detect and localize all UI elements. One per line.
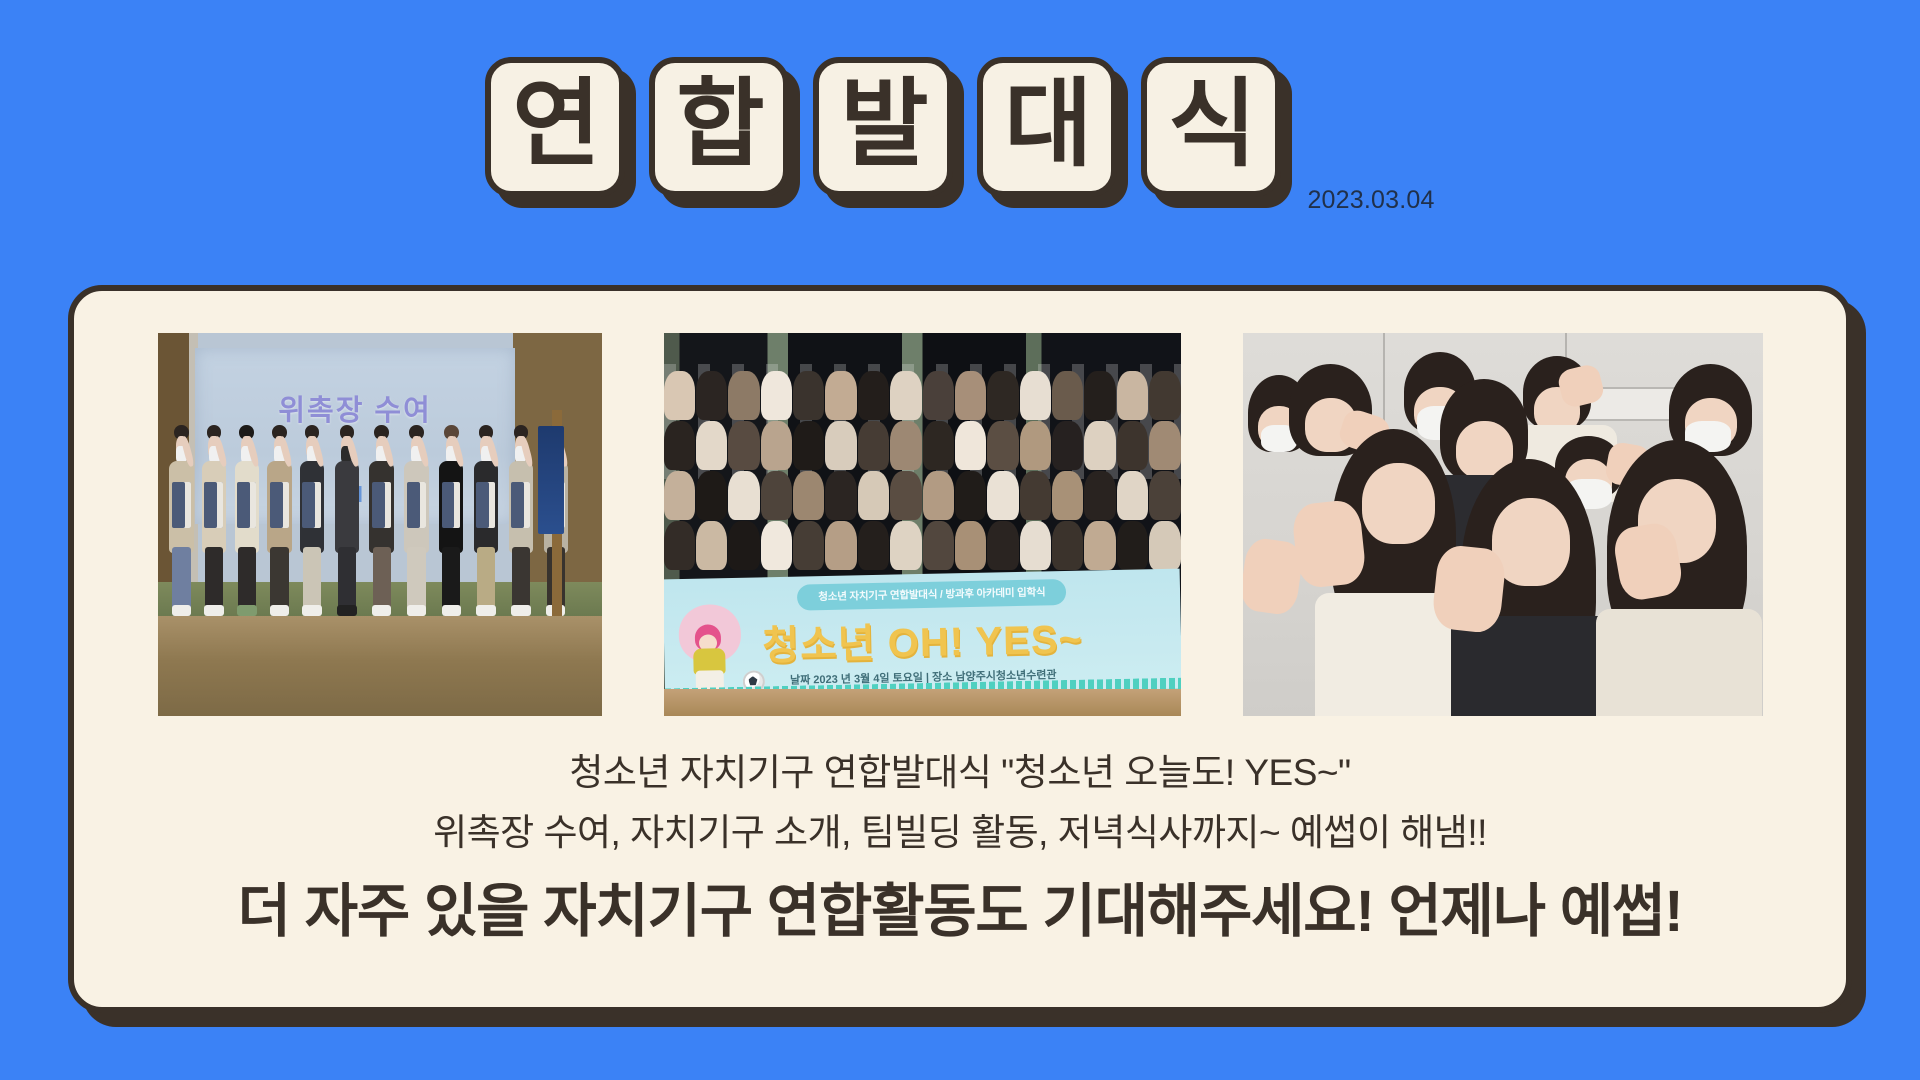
title-tile-letter: 식 — [1168, 77, 1254, 173]
selfie-photo — [1243, 333, 1763, 716]
poster-root: 연 합 발 대 식 2023.03.04 위촉장 수여 — [0, 0, 1920, 1080]
awardee — [199, 425, 229, 617]
awardee — [506, 425, 536, 617]
content-card: 위촉장 수여 — [68, 285, 1852, 1013]
awardee — [297, 425, 327, 617]
title-tile-1: 연 — [485, 57, 625, 197]
peace-sign-hand — [1431, 544, 1507, 635]
awardee — [436, 425, 466, 617]
group-assembly-photo: 청소년 자치기구 연합발대식 / 방과후 아카데미 입학식 청소년 OH! YE… — [664, 333, 1181, 716]
crowd-grid — [664, 371, 1181, 570]
awardee — [401, 425, 431, 617]
awardee-host — [332, 425, 362, 617]
photo-strip: 위촉장 수여 — [158, 333, 1763, 716]
title-tile-3: 발 — [813, 57, 953, 197]
title-tile-letter: 합 — [676, 77, 762, 173]
title-tile-2: 합 — [649, 57, 789, 197]
award-ceremony-photo: 위촉장 수여 — [158, 333, 602, 716]
title-tile-letter: 발 — [840, 77, 926, 173]
title-tile-5: 식 — [1141, 57, 1281, 197]
banner-headline: 청소년 OH! YES~ — [664, 605, 1181, 674]
awardee — [471, 425, 501, 617]
ceremonial-flag — [552, 410, 562, 617]
projection-screen-text: 위촉장 수여 — [195, 387, 515, 429]
person-face — [1362, 463, 1435, 543]
peace-sign-hand — [1290, 498, 1366, 589]
title-tile-letter: 연 — [512, 77, 598, 173]
title-tiles: 연 합 발 대 식 — [485, 57, 1281, 197]
person-torso — [1596, 609, 1762, 716]
stage-floor — [158, 616, 602, 716]
title-tile-letter: 대 — [1004, 77, 1090, 173]
poster-title-row: 연 합 발 대 식 2023.03.04 — [0, 57, 1920, 217]
hall-floor — [664, 689, 1181, 716]
banner-pill-text: 청소년 자치기구 연합발대식 / 방과후 아카데미 입학식 — [818, 585, 1045, 605]
awardees-group — [162, 425, 597, 617]
banner-pill: 청소년 자치기구 연합발대식 / 방과후 아카데미 입학식 — [797, 579, 1066, 611]
caption-line-3: 더 자주 있을 자치기구 연합활동도 기대해주세요! 언제나 예썹! — [74, 879, 1846, 946]
awardee — [232, 425, 262, 617]
caption-line-1: 청소년 자치기구 연합발대식 "청소년 오늘도! YES~" — [74, 750, 1846, 796]
title-tile-4: 대 — [977, 57, 1117, 197]
awardee — [366, 425, 396, 617]
event-date: 2023.03.04 — [1307, 186, 1434, 215]
caption-block: 청소년 자치기구 연합발대식 "청소년 오늘도! YES~" 위촉장 수여, 자… — [74, 750, 1846, 945]
awardee — [166, 425, 196, 617]
caption-line-2: 위촉장 수여, 자치기구 소개, 팀빌딩 활동, 저녁식사까지~ 예썹이 해냄!… — [74, 810, 1846, 856]
awardee — [264, 425, 294, 617]
